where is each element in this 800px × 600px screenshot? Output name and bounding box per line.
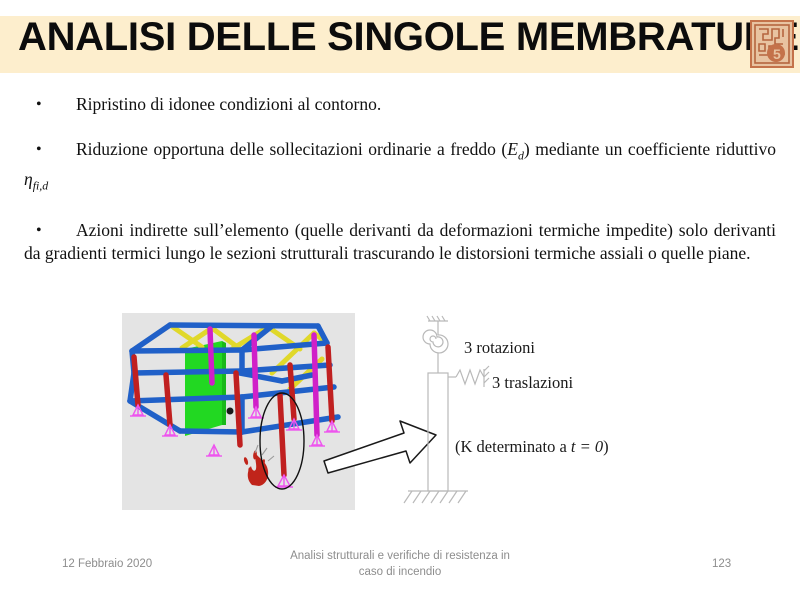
stiffness-note-post: ) <box>603 437 609 456</box>
bullet-2-text-before: Riduzione opportuna delle sollecitazioni… <box>76 139 507 159</box>
label-rotations: 3 rotazioni <box>464 338 535 358</box>
bullet-text-2: Riduzione opportuna delle sollecitazioni… <box>24 138 776 197</box>
label-translations: 3 traslazioni <box>492 373 573 393</box>
bullet-marker-1: • <box>36 93 42 116</box>
bullet-2-text-after: ) mediante un coefficiente riduttivo <box>524 139 776 159</box>
figure-area: 3 rotazioni 3 traslazioni (K determinato… <box>0 305 800 530</box>
label-stiffness-note: (K determinato a t = 0) <box>455 437 609 457</box>
footer-date: 12 Febbraio 2020 <box>62 558 152 570</box>
bullet-item-2: • Riduzione opportuna delle sollecitazio… <box>24 138 776 197</box>
footer-subject-line1: Analisi strutturali e verifiche di resis… <box>250 548 550 564</box>
svg-text:5: 5 <box>773 46 781 62</box>
bullet-2-symbol-eta-sub: fi,d <box>33 178 49 192</box>
slide-footer: 12 Febbraio 2020 Analisi strutturali e v… <box>0 544 800 600</box>
bullet-2-symbol-Ed: E <box>507 139 518 159</box>
stiffness-note-var: t = 0 <box>571 437 603 456</box>
logo-maze-icon: 5 <box>752 22 792 66</box>
cni-order-logo: 5 <box>750 20 794 68</box>
frame-model-drawing <box>122 313 355 510</box>
bullet-marker-2: • <box>36 138 42 161</box>
footer-page-number: 123 <box>712 558 731 570</box>
shear-wall <box>185 341 226 436</box>
bullet-text-3: Azioni indirette sull’elemento (quelle d… <box>24 219 776 265</box>
bullet-text-1: Ripristino di idonee condizioni al conto… <box>24 93 776 116</box>
footer-subject-line2: caso di incendio <box>250 564 550 580</box>
node-marker <box>227 408 234 415</box>
bullet-2-symbol-eta: η <box>24 169 33 189</box>
3d-steel-frame-model <box>122 313 355 510</box>
bullet-item-3: • Azioni indirette sull’elemento (quelle… <box>24 219 776 265</box>
slide-root: ANALISI DELLE SINGOLE MEMBRATURE 5 • Rip… <box>0 0 800 600</box>
footer-subject: Analisi strutturali e verifiche di resis… <box>250 548 550 580</box>
body-text-block: • Ripristino di idonee condizioni al con… <box>24 93 776 265</box>
bullet-marker-3: • <box>36 219 42 242</box>
bullet-item-1: • Ripristino di idonee condizioni al con… <box>24 93 776 116</box>
stiffness-note-pre: (K determinato a <box>455 437 571 456</box>
page-title: ANALISI DELLE SINGOLE MEMBRATURE <box>18 15 788 59</box>
